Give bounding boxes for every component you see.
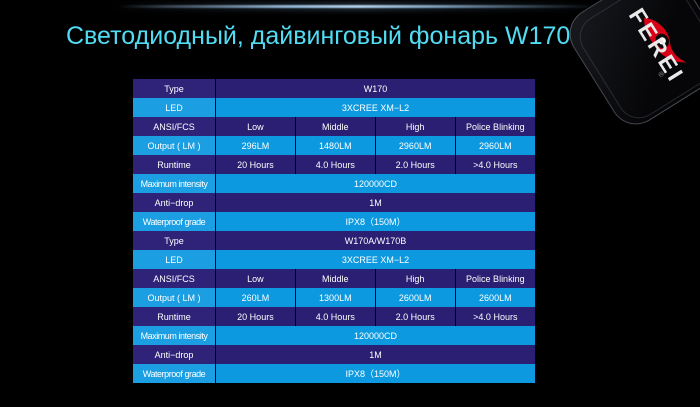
presentation-slide: Светодиодный, дайвинговый фонарь W170 FE… (0, 0, 700, 407)
table-row: Runtime20 Hours4.0 Hours2.0 Hours>4.0 Ho… (133, 155, 535, 174)
row-cell: 20 Hours (216, 155, 296, 174)
table-row: TypeW170 (133, 79, 535, 98)
registered-mark: ® (656, 71, 665, 79)
row-cell: 2.0 Hours (375, 155, 455, 174)
table-row: Maximum intensity120000CD (133, 326, 535, 345)
row-value: 120000CD (216, 326, 536, 345)
row-value: W170A/W170B (216, 231, 536, 250)
table-row: Runtime20 Hours4.0 Hours2.0 Hours>4.0 Ho… (133, 307, 535, 326)
row-label: LED (133, 250, 216, 269)
row-label: Maximum intensity (133, 326, 216, 345)
row-cell: Middle (295, 269, 375, 288)
row-label: Type (133, 231, 216, 250)
row-value: IPX8（150M） (216, 364, 536, 383)
table-row: TypeW170A/W170B (133, 231, 535, 250)
row-label: Output ( LM ) (133, 288, 216, 307)
row-cell: 2600LM (455, 288, 535, 307)
row-label: ANSI/FCS (133, 117, 216, 136)
row-cell: 260LM (216, 288, 296, 307)
flame-eye-icon (634, 8, 690, 76)
row-value: 3XCREE XM−L2 (216, 98, 536, 117)
row-cell: 4.0 Hours (295, 307, 375, 326)
row-value: W170 (216, 79, 536, 98)
row-label: Anti−drop (133, 345, 216, 364)
logo-plate-inner (571, 0, 700, 127)
row-cell: 296LM (216, 136, 296, 155)
spec-table-body: TypeW170LED3XCREE XM−L2ANSI/FCSLowMiddle… (133, 79, 535, 383)
header-divider-line (118, 5, 598, 8)
row-value: 120000CD (216, 174, 536, 193)
row-value: IPX8（150M） (216, 212, 536, 231)
table-row: Output ( LM )260LM1300LM2600LM2600LM (133, 288, 535, 307)
row-cell: >4.0 Hours (455, 155, 535, 174)
row-label: Runtime (133, 307, 216, 326)
row-cell: 1300LM (295, 288, 375, 307)
page-title: Светодиодный, дайвинговый фонарь W170 (66, 19, 586, 53)
row-value: 3XCREE XM−L2 (216, 250, 536, 269)
brand-logo: FEREI ® (566, 0, 700, 112)
table-row: Waterproof gradeIPX8（150M） (133, 364, 535, 383)
row-label: Runtime (133, 155, 216, 174)
row-cell: Low (216, 117, 296, 136)
row-label: Waterproof grade (133, 364, 216, 383)
table-row: ANSI/FCSLowMiddleHighPolice Blinking (133, 117, 535, 136)
row-label: Anti−drop (133, 193, 216, 212)
row-cell: 2960LM (375, 136, 455, 155)
row-cell: Low (216, 269, 296, 288)
row-cell: 1480LM (295, 136, 375, 155)
row-cell: >4.0 Hours (455, 307, 535, 326)
table-row: ANSI/FCSLowMiddleHighPolice Blinking (133, 269, 535, 288)
row-cell: Police Blinking (455, 269, 535, 288)
row-cell: 2.0 Hours (375, 307, 455, 326)
table-row: Maximum intensity120000CD (133, 174, 535, 193)
table-row: Anti−drop1M (133, 345, 535, 364)
row-label: Output ( LM ) (133, 136, 216, 155)
row-value: 1M (216, 193, 536, 212)
row-cell: Police Blinking (455, 117, 535, 136)
row-cell: 4.0 Hours (295, 155, 375, 174)
row-cell: 2960LM (455, 136, 535, 155)
specification-table: TypeW170LED3XCREE XM−L2ANSI/FCSLowMiddle… (133, 79, 535, 383)
table-row: Anti−drop1M (133, 193, 535, 212)
row-cell: High (375, 117, 455, 136)
row-label: ANSI/FCS (133, 269, 216, 288)
table-row: Output ( LM )296LM1480LM2960LM2960LM (133, 136, 535, 155)
row-label: Type (133, 79, 216, 98)
table-row: Waterproof gradeIPX8（150M） (133, 212, 535, 231)
table-row: LED3XCREE XM−L2 (133, 98, 535, 117)
row-value: 1M (216, 345, 536, 364)
row-cell: 2600LM (375, 288, 455, 307)
row-label: Maximum intensity (133, 174, 216, 193)
row-label: LED (133, 98, 216, 117)
logo-wordmark: FEREI (618, 0, 694, 95)
row-cell: Middle (295, 117, 375, 136)
logo-rotated-group: FEREI ® (587, 0, 700, 115)
row-cell: 20 Hours (216, 307, 296, 326)
row-label: Waterproof grade (133, 212, 216, 231)
table-row: LED3XCREE XM−L2 (133, 250, 535, 269)
row-cell: High (375, 269, 455, 288)
